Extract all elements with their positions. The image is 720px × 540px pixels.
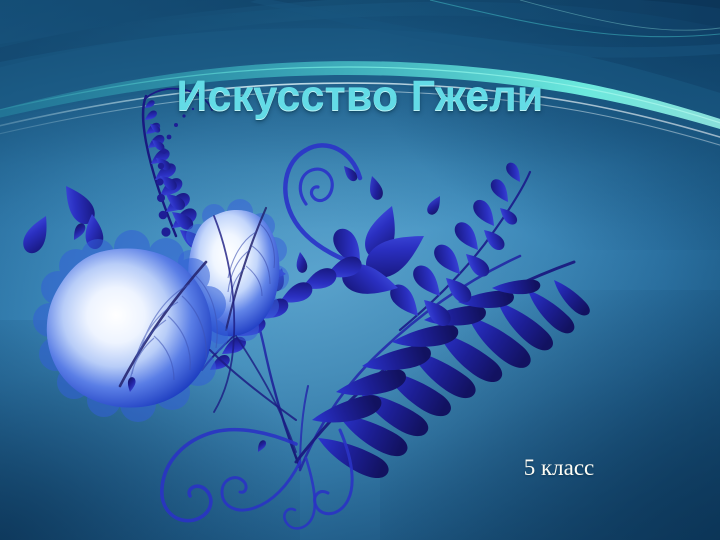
- spiral-middle: [222, 462, 300, 510]
- subtitle: 5 класс: [430, 455, 688, 481]
- page-title: Искусство Гжели: [0, 72, 720, 121]
- title-slide: Искусство Гжели 5 класс: [0, 0, 720, 540]
